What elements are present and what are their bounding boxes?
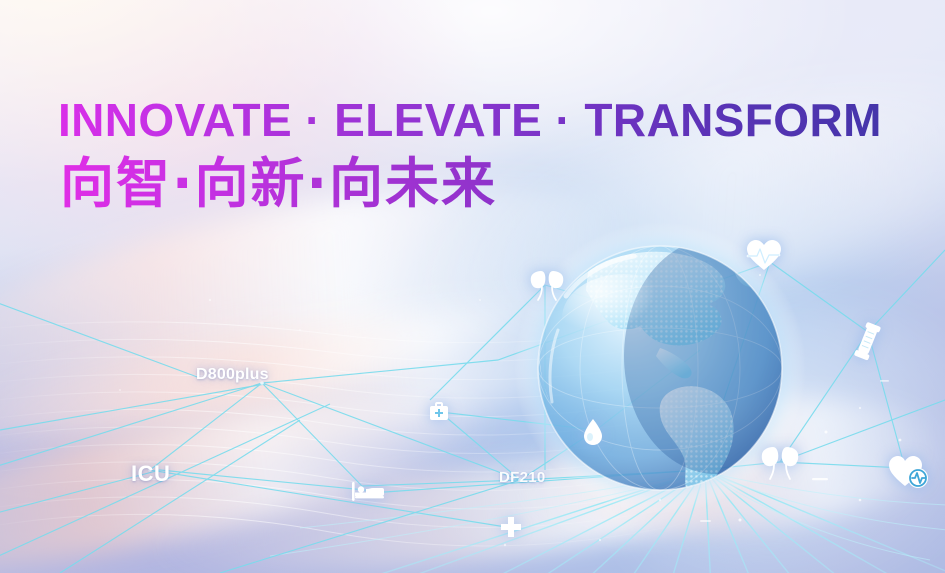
hospital-bed-icon — [351, 480, 385, 502]
heart-pulse-icon — [745, 238, 783, 272]
heart-ecg-icon — [887, 452, 929, 490]
sparkle-particles — [0, 0, 945, 573]
wave-texture — [0, 0, 945, 573]
dialyzer-icon — [852, 320, 882, 362]
glass-earth-globe — [0, 0, 945, 573]
headline-block: INNOVATE · ELEVATE · TRANSFORM 向智·向新·向未来 — [58, 96, 882, 214]
label-d800plus: D800plus — [196, 366, 269, 384]
kidneys-icon — [758, 445, 802, 481]
page-subtitle: 向智·向新·向未来 — [60, 155, 882, 213]
medical-cross-icon — [500, 516, 522, 538]
water-drop-icon — [582, 418, 604, 446]
page-title: INNOVATE · ELEVATE · TRANSFORM — [58, 96, 882, 144]
light-ribbon — [0, 361, 504, 573]
light-ribbon — [147, 437, 793, 573]
light-ribbon — [0, 276, 645, 504]
label-icu: ICU — [131, 461, 170, 487]
light-ribbon — [515, 382, 945, 549]
kidneys-icon — [527, 269, 567, 303]
light-glow — [600, 300, 945, 573]
network-mesh — [0, 0, 945, 573]
hero-banner: INNOVATE · ELEVATE · TRANSFORM 向智·向新·向未来… — [0, 0, 945, 573]
medical-bag-icon — [428, 401, 450, 423]
label-df210: DF210 — [499, 469, 546, 486]
radiating-rays — [0, 0, 945, 573]
